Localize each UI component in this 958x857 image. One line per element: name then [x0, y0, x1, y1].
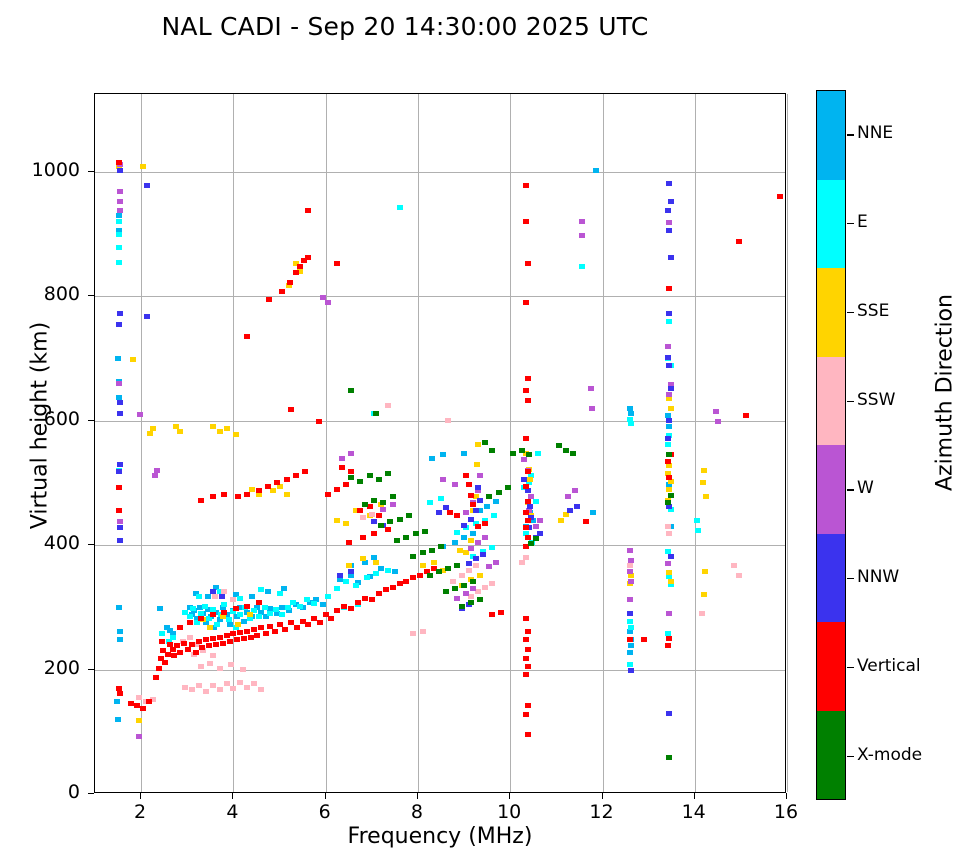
echo-marker: [429, 456, 435, 461]
echo-marker: [665, 500, 671, 505]
echo-marker: [290, 600, 296, 605]
y-tick: [88, 420, 94, 421]
echo-marker: [463, 550, 469, 555]
echo-marker: [233, 432, 239, 437]
echo-marker: [523, 616, 529, 621]
echo-marker: [224, 633, 230, 638]
echo-marker: [666, 755, 672, 760]
echo-marker: [311, 601, 317, 606]
echo-marker: [668, 493, 674, 498]
echo-marker: [567, 508, 573, 513]
echo-marker: [461, 535, 467, 540]
echo-marker: [665, 459, 671, 464]
echo-marker: [525, 499, 531, 504]
echo-marker: [558, 518, 564, 523]
ionogram-figure: NAL CADI - Sep 20 14:30:00 2025 UTC 2468…: [0, 0, 958, 857]
echo-marker: [117, 311, 123, 316]
echo-marker: [452, 586, 458, 591]
echo-marker: [220, 641, 226, 646]
echo-marker: [422, 529, 428, 534]
echo-marker: [117, 411, 123, 416]
echo-marker: [641, 637, 647, 642]
colorbar-band-x-mode[interactable]: [817, 711, 845, 800]
echo-marker: [666, 181, 672, 186]
echo-marker: [477, 573, 483, 578]
echo-marker: [266, 297, 272, 302]
echo-marker: [525, 398, 531, 403]
colorbar-label-e: E: [857, 212, 868, 232]
gridline-vertical: [787, 94, 788, 792]
echo-marker: [177, 625, 183, 630]
echo-marker: [117, 400, 123, 405]
echo-marker: [438, 496, 444, 501]
echo-marker: [237, 630, 243, 635]
y-tick: [88, 171, 94, 172]
echo-marker: [387, 519, 393, 524]
echo-marker: [438, 544, 444, 549]
echo-marker: [454, 596, 460, 601]
echo-marker: [224, 681, 230, 686]
echo-marker: [277, 591, 283, 596]
colorbar-tick: [847, 578, 854, 579]
echo-marker: [533, 536, 539, 541]
echo-marker: [288, 407, 294, 412]
x-tick: [232, 793, 233, 799]
echo-marker: [470, 579, 476, 584]
echo-marker: [337, 577, 343, 582]
echo-marker: [523, 300, 529, 305]
echo-marker: [378, 523, 384, 528]
echo-marker: [244, 685, 250, 690]
echo-marker: [217, 666, 223, 671]
y-tick: [88, 295, 94, 296]
echo-marker: [256, 600, 262, 605]
echo-marker: [251, 681, 257, 686]
echo-marker: [114, 699, 120, 704]
echo-marker: [523, 484, 529, 489]
x-tick-label: 8: [387, 801, 447, 823]
colorbar-label-nnw: NNW: [857, 567, 899, 587]
echo-marker: [628, 668, 634, 673]
colorbar-tick: [847, 312, 854, 313]
echo-marker: [136, 695, 142, 700]
echo-marker: [348, 569, 354, 574]
echo-marker: [526, 452, 532, 457]
colorbar[interactable]: [816, 90, 846, 800]
echo-marker: [574, 504, 580, 509]
echo-marker: [459, 573, 465, 578]
echo-marker: [117, 199, 123, 204]
echo-marker: [486, 494, 492, 499]
echo-marker: [343, 521, 349, 526]
echo-marker: [244, 492, 250, 497]
echo-marker: [185, 647, 191, 652]
echo-marker: [700, 480, 706, 485]
echo-marker: [254, 633, 260, 638]
echo-marker: [325, 300, 331, 305]
echo-marker: [523, 388, 529, 393]
echo-marker: [431, 560, 437, 565]
echo-marker: [165, 652, 171, 657]
echo-marker: [210, 683, 216, 688]
echo-marker: [521, 477, 527, 482]
echo-marker: [187, 635, 193, 640]
echo-marker: [233, 606, 239, 611]
echo-marker: [136, 718, 142, 723]
echo-marker: [240, 667, 246, 672]
echo-marker: [523, 525, 529, 530]
echo-marker: [385, 471, 391, 476]
echo-marker: [196, 683, 202, 688]
echo-marker: [117, 168, 123, 173]
echo-marker: [343, 579, 349, 584]
echo-marker: [666, 531, 672, 536]
echo-marker: [668, 255, 674, 260]
echo-marker: [445, 418, 451, 423]
echo-marker: [525, 664, 531, 669]
echo-marker: [272, 629, 278, 634]
x-axis-label: Frequency (MHz): [94, 824, 786, 849]
echo-marker: [473, 563, 479, 568]
echo-marker: [666, 311, 672, 316]
echo-marker: [244, 334, 250, 339]
colorbar-band-vertical[interactable]: [817, 622, 845, 711]
echo-marker: [210, 653, 216, 658]
echo-marker: [627, 597, 633, 602]
colorbar-tick: [847, 223, 854, 224]
colorbar-band-sse[interactable]: [817, 268, 845, 357]
echo-marker: [473, 556, 479, 561]
echo-marker: [376, 591, 382, 596]
echo-marker: [470, 502, 476, 507]
echo-marker: [627, 662, 633, 667]
echo-marker: [376, 513, 382, 518]
echo-marker: [256, 614, 262, 619]
echo-marker: [348, 388, 354, 393]
echo-marker: [117, 538, 123, 543]
echo-marker: [348, 451, 354, 456]
echo-marker: [346, 563, 352, 568]
echo-marker: [221, 492, 227, 497]
echo-marker: [537, 518, 543, 523]
echo-marker: [226, 617, 232, 622]
colorbar-label-x-mode: X-mode: [857, 745, 922, 765]
echo-marker: [227, 639, 233, 644]
echo-marker: [116, 322, 122, 327]
echo-marker: [628, 579, 634, 584]
echo-marker: [360, 535, 366, 540]
echo-marker: [263, 631, 269, 636]
echo-marker: [523, 712, 529, 717]
echo-marker: [410, 575, 416, 580]
echo-marker: [187, 620, 193, 625]
x-tick-label: 12: [572, 801, 632, 823]
echo-marker: [535, 451, 541, 456]
echo-marker: [297, 604, 303, 609]
echo-marker: [521, 457, 527, 462]
echo-marker: [666, 220, 672, 225]
echo-marker: [228, 662, 234, 667]
echo-marker: [699, 611, 705, 616]
echo-marker: [523, 510, 529, 515]
echo-marker: [130, 357, 136, 362]
echo-marker: [150, 426, 156, 431]
echo-marker: [287, 280, 293, 285]
echo-marker: [410, 554, 416, 559]
echo-marker: [230, 631, 236, 636]
echo-marker: [463, 473, 469, 478]
echo-marker: [590, 510, 596, 515]
echo-marker: [117, 525, 123, 530]
echo-marker: [666, 487, 672, 492]
echo-marker: [570, 451, 576, 456]
data-layer: [95, 94, 785, 792]
echo-marker: [371, 498, 377, 503]
echo-marker: [420, 563, 426, 568]
echo-marker: [627, 637, 633, 642]
echo-marker: [436, 569, 442, 574]
echo-marker: [385, 568, 391, 573]
echo-marker: [461, 523, 467, 528]
x-tick: [140, 793, 141, 799]
echo-marker: [427, 500, 433, 505]
x-tick-label: 14: [664, 801, 724, 823]
echo-marker: [666, 228, 672, 233]
echo-marker: [666, 475, 672, 480]
echo-marker: [668, 199, 674, 204]
echo-marker: [665, 524, 671, 529]
echo-marker: [463, 591, 469, 596]
echo-marker: [362, 596, 368, 601]
echo-marker: [170, 635, 176, 640]
echo-marker: [274, 480, 280, 485]
page-title: NAL CADI - Sep 20 14:30:00 2025 UTC: [0, 12, 810, 41]
echo-marker: [355, 600, 361, 605]
echo-marker: [525, 732, 531, 737]
echo-marker: [743, 413, 749, 418]
echo-marker: [187, 614, 193, 619]
echo-marker: [523, 183, 529, 188]
echo-marker: [489, 545, 495, 550]
echo-marker: [380, 507, 386, 512]
echo-marker: [703, 494, 709, 499]
echo-marker: [177, 650, 183, 655]
echo-marker: [373, 571, 379, 576]
echo-marker: [235, 494, 241, 499]
echo-marker: [196, 594, 202, 599]
echo-marker: [475, 524, 481, 529]
echo-marker: [128, 701, 134, 706]
echo-marker: [210, 612, 216, 617]
echo-marker: [258, 587, 264, 592]
echo-marker: [413, 531, 419, 536]
echo-marker: [666, 286, 672, 291]
echo-marker: [666, 418, 672, 423]
echo-marker: [285, 605, 291, 610]
echo-marker: [665, 208, 671, 213]
echo-marker: [461, 583, 467, 588]
echo-marker: [117, 208, 123, 213]
echo-marker: [427, 573, 433, 578]
x-tick-label: 4: [202, 801, 262, 823]
echo-marker: [234, 637, 240, 642]
echo-marker: [713, 409, 719, 414]
echo-marker: [117, 691, 123, 696]
echo-marker: [116, 245, 122, 250]
echo-marker: [279, 612, 285, 617]
echo-marker: [385, 527, 391, 532]
echo-marker: [489, 448, 495, 453]
echo-marker: [468, 600, 474, 605]
colorbar-band-nne[interactable]: [817, 91, 845, 180]
echo-marker: [305, 208, 311, 213]
echo-marker: [325, 492, 331, 497]
echo-marker: [293, 473, 299, 478]
echo-marker: [628, 421, 634, 426]
x-tick: [694, 793, 695, 799]
echo-marker: [116, 219, 122, 224]
echo-marker: [217, 429, 223, 434]
echo-marker: [136, 734, 142, 739]
colorbar-band-ssw[interactable]: [817, 357, 845, 446]
echo-marker: [270, 488, 276, 493]
echo-marker: [486, 564, 492, 569]
echo-marker: [206, 643, 212, 648]
echo-marker: [348, 469, 354, 474]
echo-marker: [144, 314, 150, 319]
echo-marker: [137, 412, 143, 417]
echo-marker: [527, 477, 533, 482]
echo-marker: [482, 521, 488, 526]
echo-marker: [468, 493, 474, 498]
echo-marker: [196, 639, 202, 644]
echo-marker: [403, 579, 409, 584]
echo-marker: [237, 596, 243, 601]
echo-marker: [293, 270, 299, 275]
echo-marker: [199, 645, 205, 650]
echo-marker: [334, 518, 340, 523]
echo-marker: [565, 494, 571, 499]
echo-marker: [489, 612, 495, 617]
echo-marker: [205, 594, 211, 599]
echo-marker: [343, 482, 349, 487]
echo-marker: [140, 164, 146, 169]
echo-marker: [198, 664, 204, 669]
echo-marker: [666, 463, 672, 468]
echo-marker: [493, 499, 499, 504]
echo-marker: [736, 239, 742, 244]
echo-marker: [452, 540, 458, 545]
echo-marker: [334, 261, 340, 266]
echo-marker: [666, 363, 672, 368]
echo-marker: [390, 494, 396, 499]
echo-marker: [410, 631, 416, 636]
echo-marker: [140, 706, 146, 711]
colorbar-band-w[interactable]: [817, 445, 845, 534]
echo-marker: [244, 629, 250, 634]
echo-marker: [265, 484, 271, 489]
echo-marker: [475, 485, 481, 490]
echo-marker: [115, 717, 121, 722]
echo-marker: [668, 554, 674, 559]
echo-marker: [360, 515, 366, 520]
echo-marker: [777, 194, 783, 199]
echo-marker: [221, 602, 227, 607]
echo-marker: [284, 477, 290, 482]
echo-marker: [210, 589, 216, 594]
echo-marker: [454, 530, 460, 535]
echo-marker: [454, 563, 460, 568]
echo-marker: [117, 462, 123, 467]
echo-marker: [194, 620, 200, 625]
echo-marker: [523, 637, 529, 642]
echo-marker: [525, 261, 531, 266]
echo-marker: [491, 513, 497, 518]
echo-marker: [177, 429, 183, 434]
echo-marker: [589, 406, 595, 411]
y-tick-label: 1000: [10, 159, 80, 181]
echo-marker: [147, 431, 153, 436]
echo-marker: [117, 637, 123, 642]
echo-marker: [153, 675, 159, 680]
echo-marker: [210, 424, 216, 429]
echo-marker: [523, 219, 529, 224]
colorbar-tick: [847, 401, 854, 402]
echo-marker: [482, 440, 488, 445]
plot-area: [94, 93, 786, 793]
echo-marker: [116, 469, 122, 474]
colorbar-band-nnw[interactable]: [817, 534, 845, 623]
echo-marker: [665, 344, 671, 349]
echo-marker: [666, 319, 672, 324]
echo-marker: [588, 386, 594, 391]
echo-marker: [736, 573, 742, 578]
echo-marker: [364, 575, 370, 580]
colorbar-label-sse: SSE: [857, 301, 889, 321]
echo-marker: [523, 555, 529, 560]
echo-marker: [519, 560, 525, 565]
echo-marker: [198, 616, 204, 621]
echo-marker: [305, 255, 311, 260]
echo-marker: [244, 604, 250, 609]
echo-marker: [477, 498, 483, 503]
echo-marker: [117, 519, 123, 524]
echo-marker: [731, 563, 737, 568]
echo-marker: [525, 518, 531, 523]
echo-marker: [498, 610, 504, 615]
echo-marker: [117, 629, 123, 634]
echo-marker: [583, 519, 589, 524]
echo-marker: [256, 488, 262, 493]
colorbar-tick: [847, 756, 854, 757]
echo-marker: [463, 510, 469, 515]
echo-marker: [523, 656, 529, 661]
echo-marker: [116, 213, 122, 218]
echo-marker: [337, 573, 343, 578]
colorbar-label-ssw: SSW: [857, 390, 895, 410]
echo-marker: [406, 513, 412, 518]
echo-marker: [628, 558, 634, 563]
echo-marker: [380, 500, 386, 505]
echo-marker: [116, 605, 122, 610]
echo-marker: [496, 490, 502, 495]
echo-marker: [334, 608, 340, 613]
echo-marker: [447, 510, 453, 515]
echo-marker: [482, 585, 488, 590]
echo-marker: [230, 686, 236, 691]
echo-marker: [116, 485, 122, 490]
colorbar-band-e[interactable]: [817, 180, 845, 269]
